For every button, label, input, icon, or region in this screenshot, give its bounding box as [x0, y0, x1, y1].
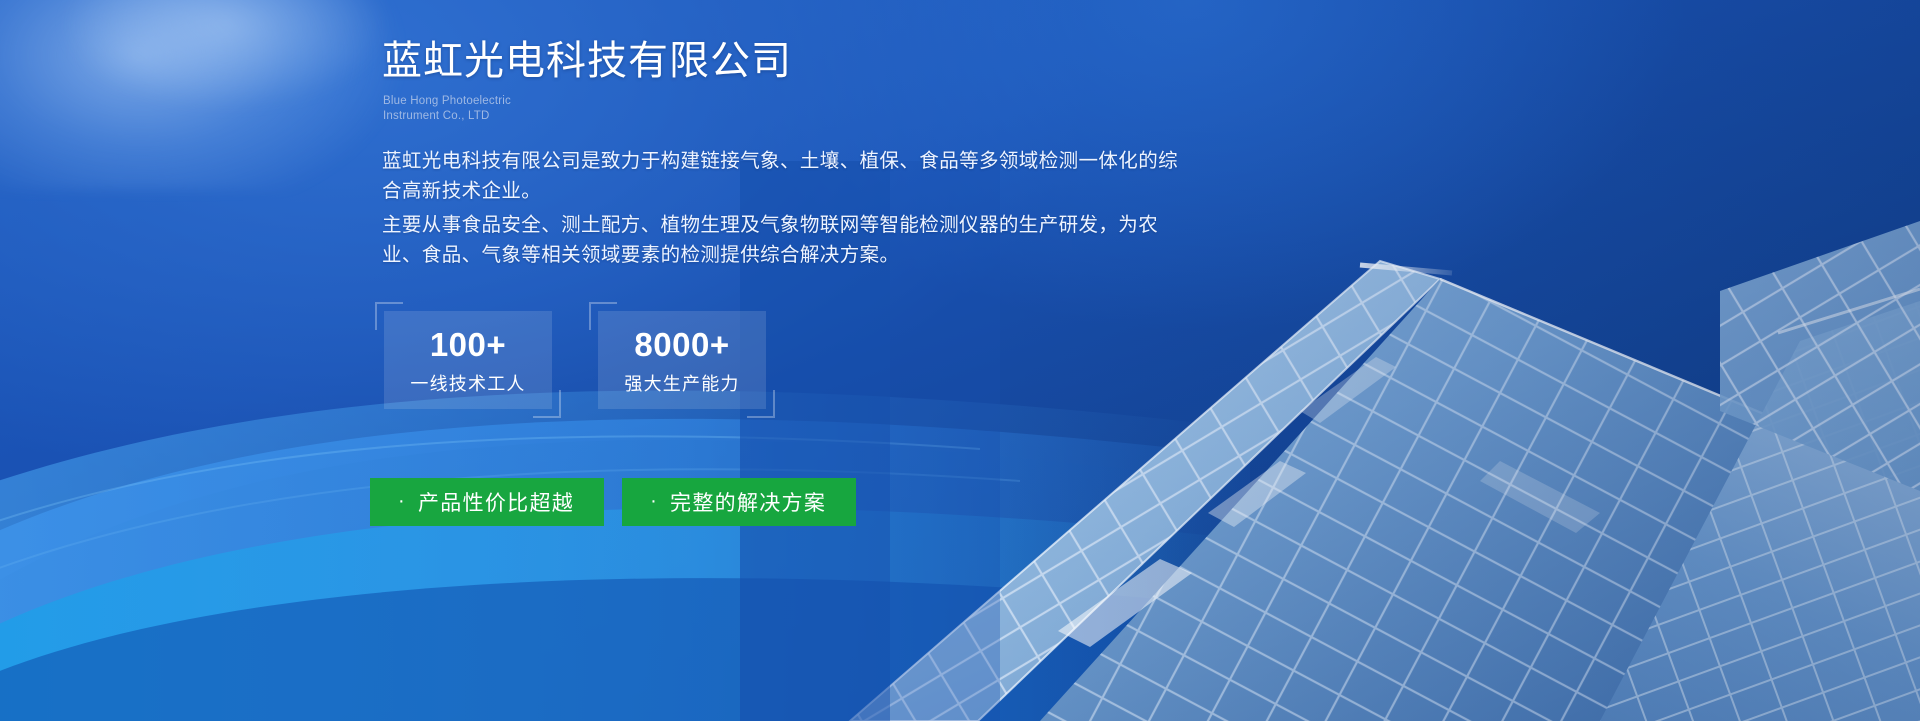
cloud-glow-secondary-decoration: [60, 0, 390, 110]
company-subtitle-line2: Instrument Co., LTD: [383, 109, 511, 124]
intro-paragraph-2: 主要从事食品安全、测土配方、植物生理及气象物联网等智能检测仪器的生产研发，为农业…: [382, 210, 1182, 270]
stat-value: 8000+: [634, 328, 729, 361]
feature-tag[interactable]: · 完整的解决方案: [622, 478, 856, 526]
feature-tag[interactable]: · 产品性价比超越: [370, 478, 604, 526]
stat-value: 100+: [430, 328, 506, 361]
hero-banner: 蓝虹光电科技有限公司 Blue Hong Photoelectric Instr…: [0, 0, 1920, 721]
intro-paragraph-1: 蓝虹光电科技有限公司是致力于构建链接气象、土壤、植保、食品等多领域检测一体化的综…: [382, 146, 1182, 206]
bullet-dot-icon: ·: [650, 491, 658, 511]
company-subtitle-english: Blue Hong Photoelectric Instrument Co., …: [383, 94, 511, 123]
stat-box-group: 100+ 一线技术工人 8000+ 强大生产能力: [384, 311, 766, 409]
stat-label: 一线技术工人: [410, 375, 525, 393]
stat-box: 8000+ 强大生产能力: [598, 311, 766, 409]
bullet-dot-icon: ·: [398, 491, 406, 511]
feature-tag-group: · 产品性价比超越 · 完整的解决方案: [370, 478, 856, 526]
banner-content: 蓝虹光电科技有限公司 Blue Hong Photoelectric Instr…: [382, 0, 1562, 721]
stat-label: 强大生产能力: [624, 375, 739, 393]
feature-tag-label: 产品性价比超越: [418, 487, 574, 517]
company-subtitle-line1: Blue Hong Photoelectric: [383, 94, 511, 109]
feature-tag-label: 完整的解决方案: [670, 487, 826, 517]
company-title: 蓝虹光电科技有限公司: [382, 38, 792, 85]
stat-box: 100+ 一线技术工人: [384, 311, 552, 409]
